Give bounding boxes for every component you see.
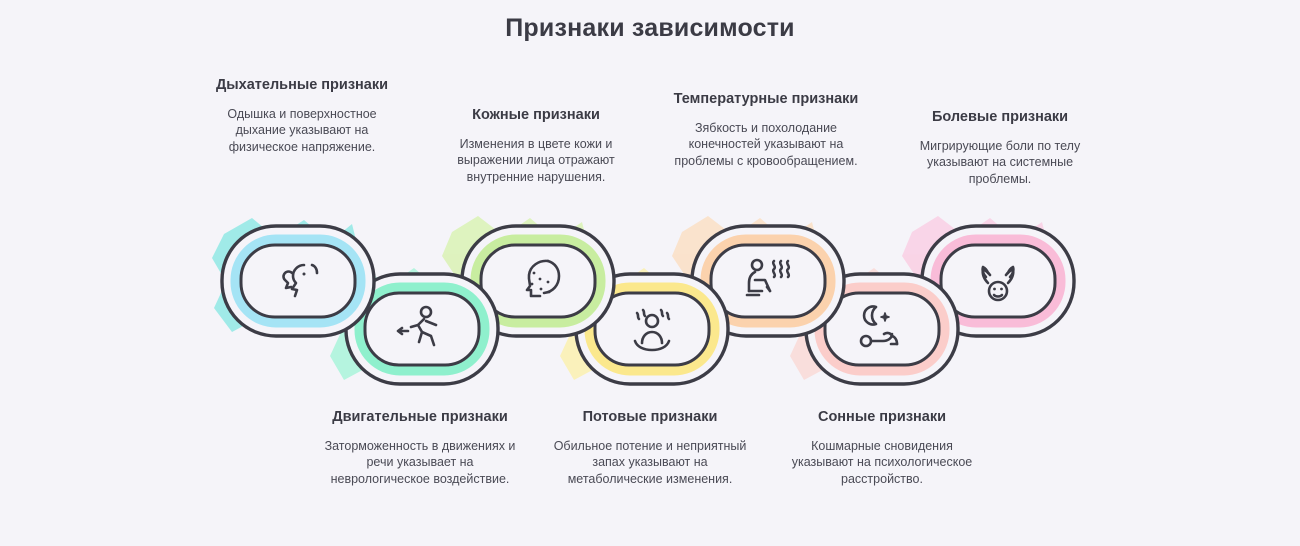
- sign-title: Кожные признаки: [436, 106, 636, 125]
- sign-description: Кошмарные сновидения указывают на психол…: [782, 438, 982, 488]
- chain-link-breathing[interactable]: [222, 226, 374, 336]
- sign-description: Обильное потение и неприятный запах указ…: [550, 438, 750, 488]
- sign-label-motor: Двигательные признаки Заторможенность в …: [320, 408, 520, 487]
- sign-title: Температурные признаки: [666, 90, 866, 109]
- sign-label-pain: Болевые признаки Мигрирующие боли по тел…: [900, 108, 1100, 187]
- sign-title: Дыхательные признаки: [202, 76, 402, 95]
- sign-title: Болевые признаки: [900, 108, 1100, 127]
- chain-diagram: [0, 212, 1300, 398]
- page-title: Признаки зависимости: [0, 14, 1300, 43]
- sign-description: Заторможенность в движениях и речи указы…: [320, 438, 520, 488]
- sign-title: Потовые признаки: [550, 408, 750, 427]
- sign-label-sleep: Сонные признаки Кошмарные сновидения ука…: [782, 408, 982, 487]
- sign-label-temperature: Температурные признаки Зябкость и похоло…: [666, 90, 866, 169]
- sign-title: Двигательные признаки: [320, 408, 520, 427]
- sign-description: Изменения в цвете кожи и выражении лица …: [436, 136, 636, 186]
- sign-description: Мигрирующие боли по телу указывают на си…: [900, 138, 1100, 188]
- sign-label-sweat: Потовые признаки Обильное потение и непр…: [550, 408, 750, 487]
- sign-label-breathing: Дыхательные признаки Одышка и поверхност…: [202, 76, 402, 155]
- sign-title: Сонные признаки: [782, 408, 982, 427]
- sign-description: Одышка и поверхностное дыхание указывают…: [202, 106, 402, 156]
- sign-label-skin: Кожные признаки Изменения в цвете кожи и…: [436, 106, 636, 185]
- sign-description: Зябкость и похолодание конечностей указы…: [666, 120, 866, 170]
